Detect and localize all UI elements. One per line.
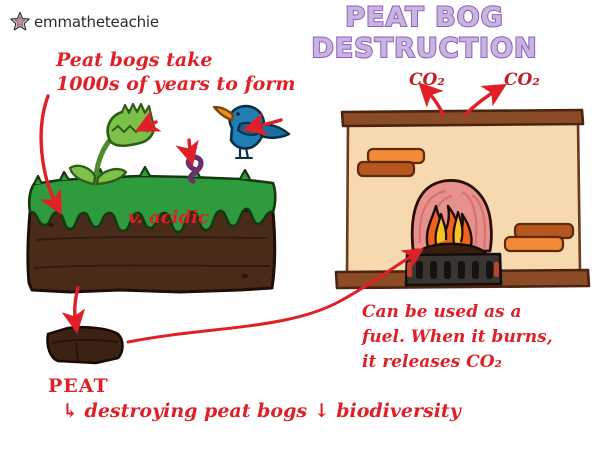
label-co2-right: CO₂: [504, 70, 540, 90]
annotation-fuel-note: Can be used as a fuel. When it burns, it…: [362, 300, 597, 375]
annotation-biodiversity: ↳ destroying peat bogs ↓ biodiversity: [62, 400, 461, 422]
peat-bog-cross-section: [28, 167, 275, 292]
annotation-formation-time: Peat bogs take 1000s of years to form: [56, 48, 321, 96]
fireplace-burning-peat: [336, 110, 589, 288]
wall-bricks-left: [358, 149, 424, 176]
blue-bird: [214, 106, 289, 158]
peat-brick-sample: [47, 327, 122, 363]
annotation-acidity: v. acidic: [128, 207, 209, 228]
diagram-canvas: emmatheteachie PEAT BOG DESTRUCTION: [0, 0, 602, 451]
label-co2-left: CO₂: [409, 70, 445, 90]
wall-bricks-right: [505, 224, 573, 251]
label-peat: PEAT: [48, 375, 109, 397]
